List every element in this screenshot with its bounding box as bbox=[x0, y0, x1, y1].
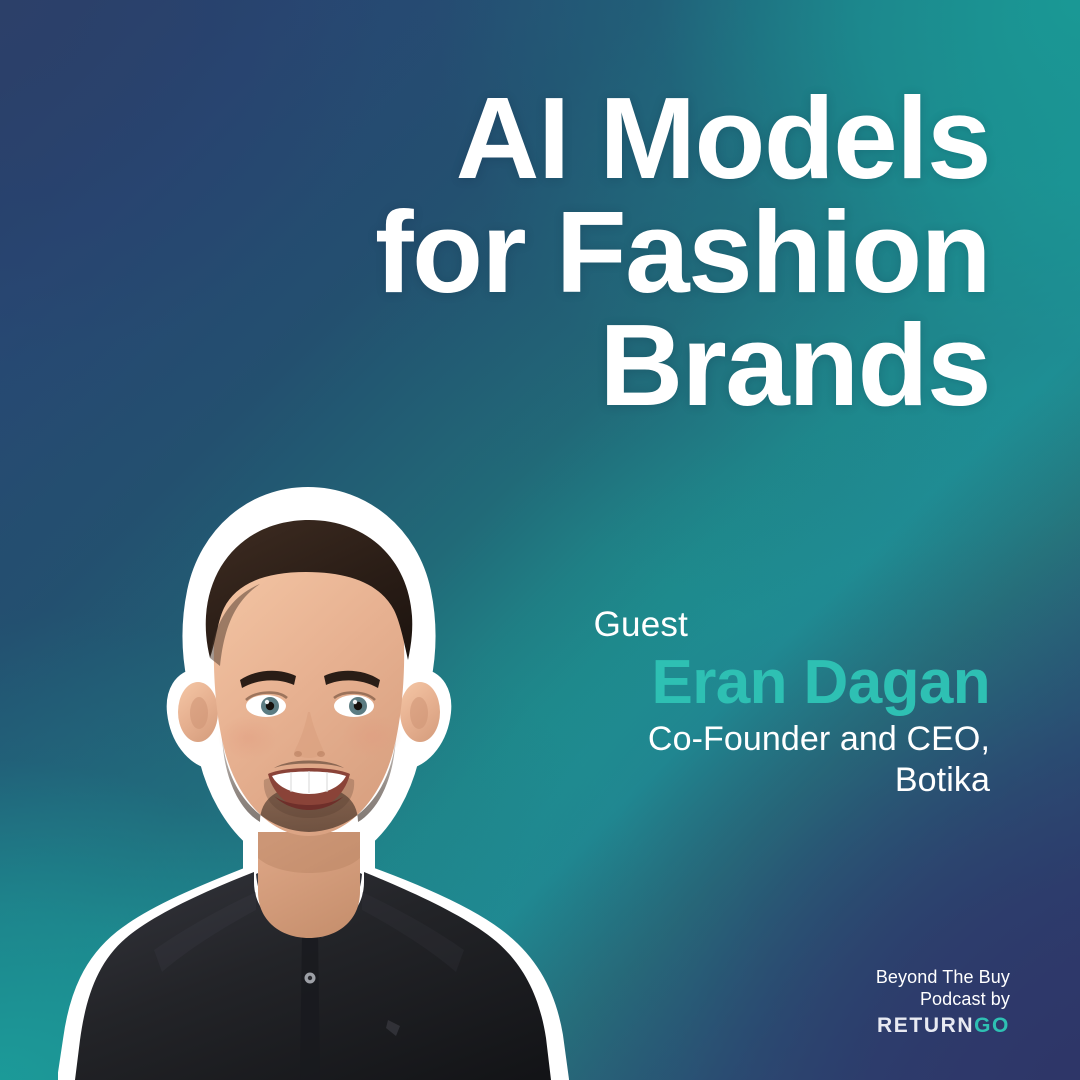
podcast-name: Beyond The Buy bbox=[876, 966, 1010, 989]
episode-title-line-2: for Fashion bbox=[120, 196, 990, 310]
podcast-episode-cover: AI Models for Fashion Brands Guest Eran … bbox=[0, 0, 1080, 1080]
guest-info-block: Guest Eran Dagan Co-Founder and CEO, Bot… bbox=[430, 606, 990, 801]
returngo-logo-return-text: RETURN bbox=[877, 1014, 974, 1037]
guest-role-line-1: Co-Founder and CEO, bbox=[430, 719, 990, 760]
podcast-byline: Podcast by bbox=[876, 988, 1010, 1011]
episode-title: AI Models for Fashion Brands bbox=[120, 82, 990, 423]
episode-title-line-3: Brands bbox=[120, 309, 990, 423]
guest-label: Guest bbox=[430, 606, 990, 644]
portrait-neck bbox=[258, 832, 360, 938]
podcast-branding: Beyond The Buy Podcast by RETURNGO bbox=[876, 966, 1010, 1038]
returngo-logo-go-text: GO bbox=[974, 1014, 1010, 1037]
episode-title-line-1: AI Models bbox=[120, 82, 990, 196]
guest-role: Co-Founder and CEO, Botika bbox=[430, 719, 990, 801]
guest-name: Eran Dagan bbox=[430, 648, 990, 717]
returngo-logo: RETURNGO bbox=[876, 1014, 1010, 1038]
guest-role-line-2: Botika bbox=[430, 760, 990, 801]
portrait-face bbox=[206, 520, 413, 836]
